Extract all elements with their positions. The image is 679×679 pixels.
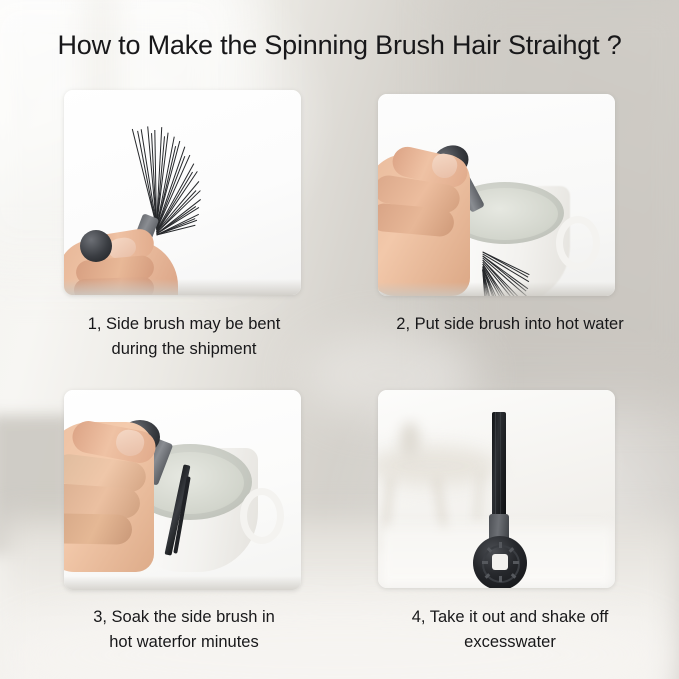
brush-base-notch <box>499 576 502 582</box>
mug-handle <box>556 216 600 270</box>
brush-base-notch <box>513 561 519 564</box>
page-title: How to Make the Spinning Brush Hair Stra… <box>0 28 679 62</box>
step-4-photo-panel <box>378 390 615 588</box>
bristle-highlight <box>495 412 496 518</box>
brush-cap <box>80 230 112 262</box>
brush-bristles <box>156 126 158 226</box>
brush-bristles <box>482 200 484 270</box>
step-3-photo-panel <box>64 390 301 590</box>
photo-background-vase <box>400 422 420 458</box>
instruction-infographic: How to Make the Spinning Brush Hair Stra… <box>0 0 679 679</box>
step-4-caption: 4, Take it out and shake off excesswater <box>360 605 660 655</box>
step-3-caption: 3, Soak the side brush in hot waterfor m… <box>44 605 324 655</box>
step-2-photo <box>378 94 615 296</box>
brush-base-square-socket <box>492 554 508 570</box>
step-1-photo <box>64 90 301 295</box>
photo-bottom-shadow <box>378 282 615 296</box>
step-4-photo <box>378 390 615 588</box>
photo-bottom-shadow <box>64 279 301 295</box>
step-1-photo-panel <box>64 90 301 295</box>
step-1-caption: 1, Side brush may be bent during the shi… <box>44 312 324 362</box>
bristle-highlight <box>500 412 501 518</box>
brush-base-notch <box>482 561 488 564</box>
photo-bottom-shadow <box>64 576 301 590</box>
brush-base-notch <box>499 542 502 548</box>
finger <box>64 513 132 544</box>
step-3-photo <box>64 390 301 590</box>
step-2-photo-panel <box>378 94 615 296</box>
mug-handle <box>240 488 284 544</box>
step-2-caption: 2, Put side brush into hot water <box>360 312 660 337</box>
